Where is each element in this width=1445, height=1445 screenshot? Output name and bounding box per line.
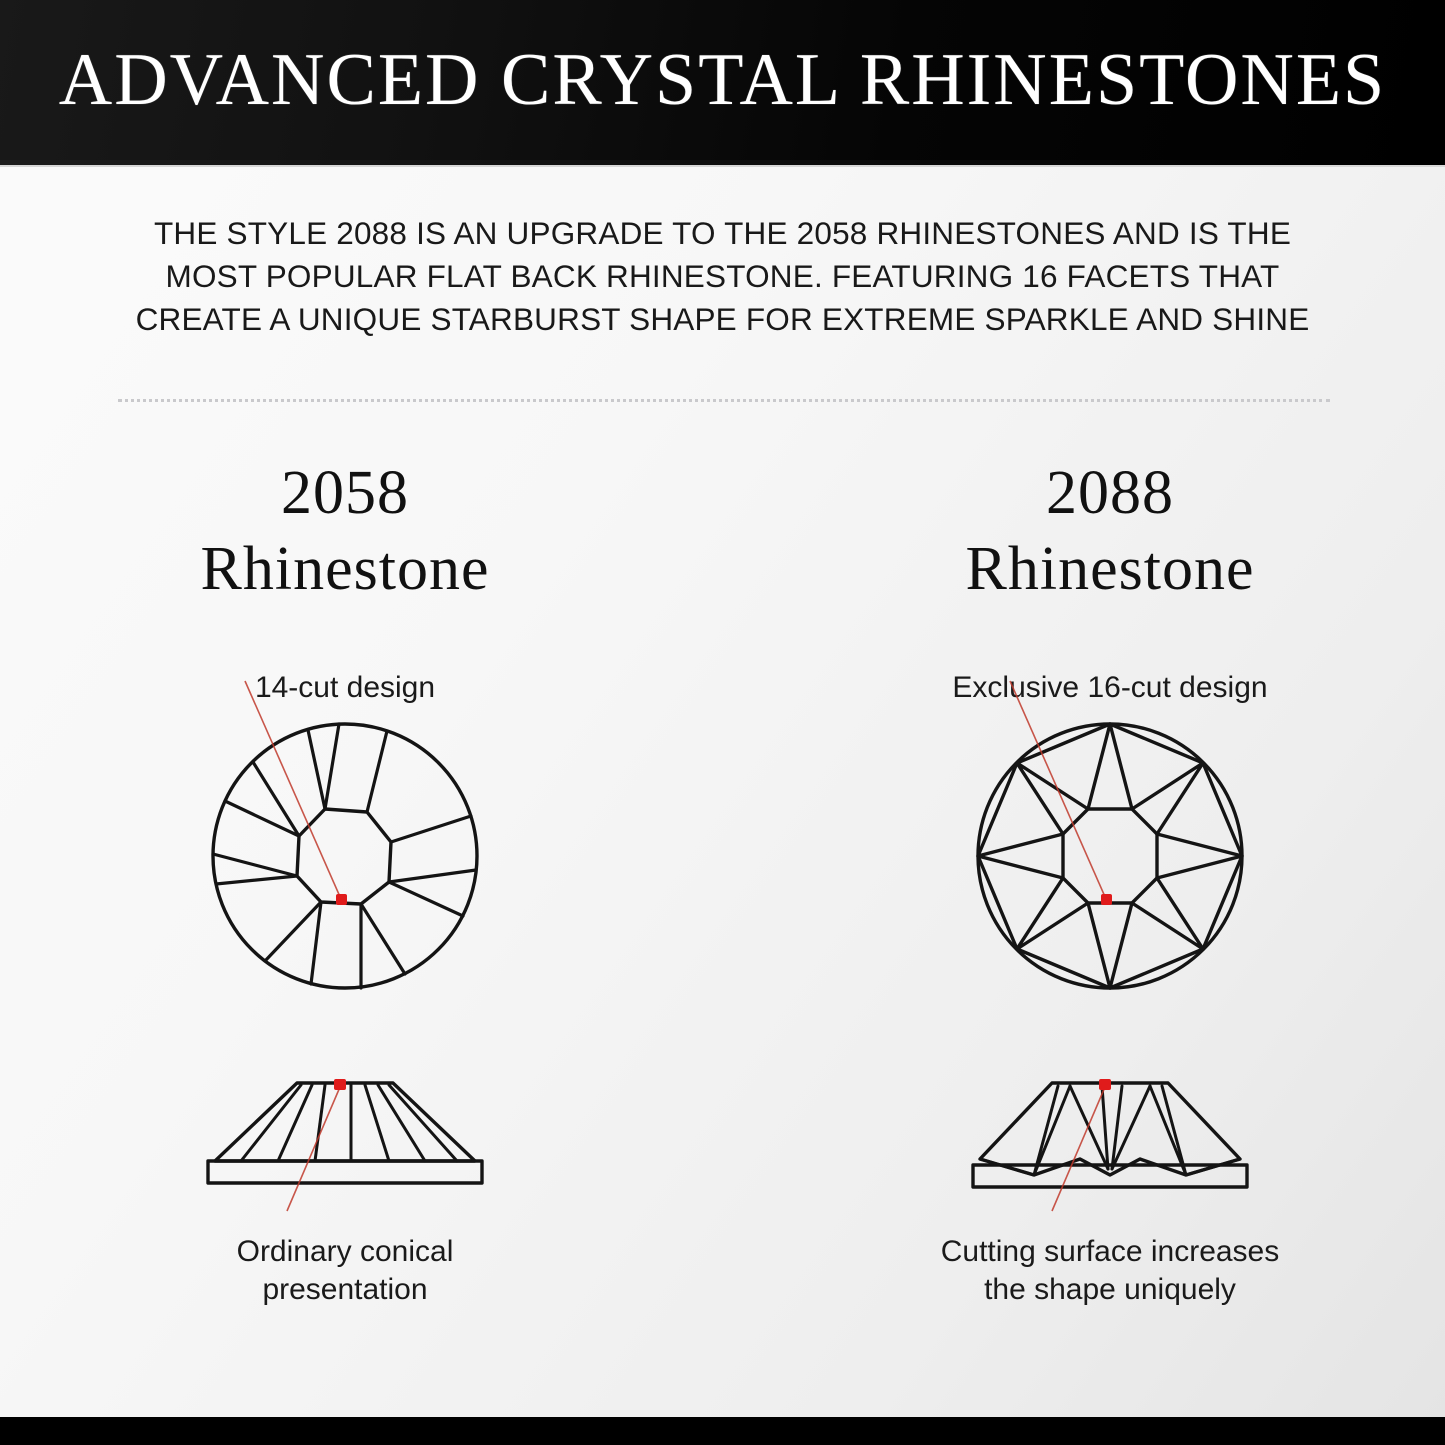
gem-2088-top-svg: [790, 711, 1430, 1001]
section-divider: [118, 399, 1330, 402]
column-2088-heading: 2088 Rhinestone: [790, 455, 1430, 607]
column-2058: 2058 Rhinestone 14-cut design: [25, 455, 665, 1355]
header-band: ADVANCED CRYSTAL RHINESTONES: [0, 0, 1445, 160]
cone-facet-lines: [241, 1085, 457, 1161]
table-octagon: [297, 809, 391, 904]
intro-line-1: THE STYLE 2088 IS AN UPGRADE TO THE 2058…: [95, 212, 1350, 255]
caption-2088-line-2: the shape uniquely: [790, 1271, 1430, 1309]
marker-dot-side-2088: [1099, 1079, 1111, 1090]
diagram-2088-top-view: [790, 711, 1430, 1001]
caption-2058-line-1: Ordinary conical: [25, 1233, 665, 1271]
diagram-2058-top-view: [25, 711, 665, 1001]
column-2058-word: Rhinestone: [25, 531, 665, 607]
column-2058-heading: 2058 Rhinestone: [25, 455, 665, 607]
star-profile-body: [980, 1083, 1240, 1175]
caption-2088-line-1: Cutting surface increases: [790, 1233, 1430, 1271]
intro-paragraph: THE STYLE 2088 IS AN UPGRADE TO THE 2058…: [95, 212, 1350, 341]
column-2058-number: 2058: [25, 455, 665, 531]
caption-ordinary-conical: Ordinary conical presentation: [25, 1233, 665, 1309]
cone-body: [215, 1083, 475, 1161]
marker-dot-side-2058: [334, 1079, 346, 1090]
intro-line-3: CREATE A UNIQUE STARBURST SHAPE FOR EXTR…: [95, 298, 1350, 341]
marker-dot-top-2058: [336, 894, 347, 905]
intro-line-2: MOST POPULAR FLAT BACK RHINESTONE. FEATU…: [95, 255, 1350, 298]
table-octagon: [1063, 809, 1157, 903]
gem-2058-top-svg: [25, 711, 665, 1001]
diagram-2058-side-view: [25, 1063, 665, 1213]
marker-dot-top-2088: [1101, 894, 1112, 905]
column-2088: 2088 Rhinestone Exclusive 16-cut design: [790, 455, 1430, 1355]
annotation-16-cut-design: Exclusive 16-cut design: [790, 671, 1430, 705]
caption-cutting-surface: Cutting surface increases the shape uniq…: [790, 1233, 1430, 1309]
page-title: ADVANCED CRYSTAL RHINESTONES: [59, 43, 1386, 117]
gem-2058-side-svg: [25, 1063, 665, 1213]
header-hairline: [0, 165, 1445, 167]
column-2088-word: Rhinestone: [790, 531, 1430, 607]
gem-2088-side-svg: [790, 1063, 1430, 1213]
diagram-2088-side-view: [790, 1063, 1430, 1213]
annotation-14-cut-design: 14-cut design: [25, 671, 665, 705]
base-slab: [208, 1161, 482, 1183]
leader-line-side-2058: [287, 1087, 340, 1211]
star-facet-lines: [980, 1086, 1240, 1175]
footer-band: [0, 1417, 1445, 1445]
caption-2058-line-2: presentation: [25, 1271, 665, 1309]
star-spikes: [978, 724, 1242, 988]
column-2088-number: 2088: [790, 455, 1430, 531]
infographic-page: ADVANCED CRYSTAL RHINESTONES THE STYLE 2…: [0, 0, 1445, 1445]
